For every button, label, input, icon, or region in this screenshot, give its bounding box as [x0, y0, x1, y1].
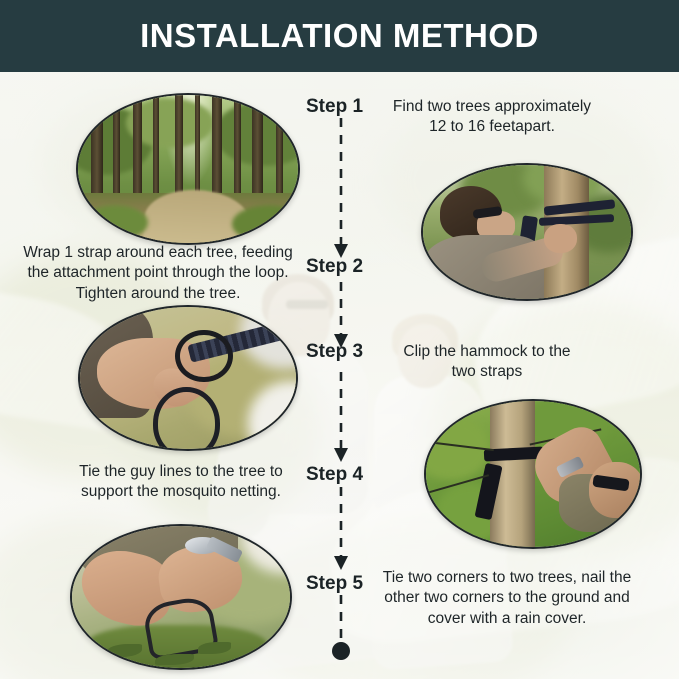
step-1-text: Find two trees approximately 12 to 16 fe…: [384, 97, 600, 138]
step-1-label: Step 1: [306, 96, 363, 118]
step-5-label: Step 5: [306, 573, 363, 595]
step-4-photo: [424, 399, 642, 549]
page-title: INSTALLATION METHOD: [140, 17, 539, 55]
step-3-photo: [78, 305, 298, 451]
installation-method-poster: INSTALLATION METHOD: [0, 0, 679, 679]
step-1-photo: [76, 93, 300, 245]
step-5-photo: [70, 524, 292, 670]
step-2-text: Wrap 1 strap around each tree, feeding t…: [16, 243, 300, 304]
step-3-text: Clip the hammock to the two straps: [384, 342, 590, 383]
step-3-label: Step 3: [306, 341, 363, 363]
step-2-photo: [421, 163, 633, 301]
header-bar: INSTALLATION METHOD: [0, 0, 679, 72]
step-5-text: Tie two corners to two trees, nail the o…: [382, 568, 632, 629]
step-2-label: Step 2: [306, 256, 363, 278]
step-4-label: Step 4: [306, 464, 363, 486]
step-4-text: Tie the guy lines to the tree to support…: [58, 462, 304, 503]
